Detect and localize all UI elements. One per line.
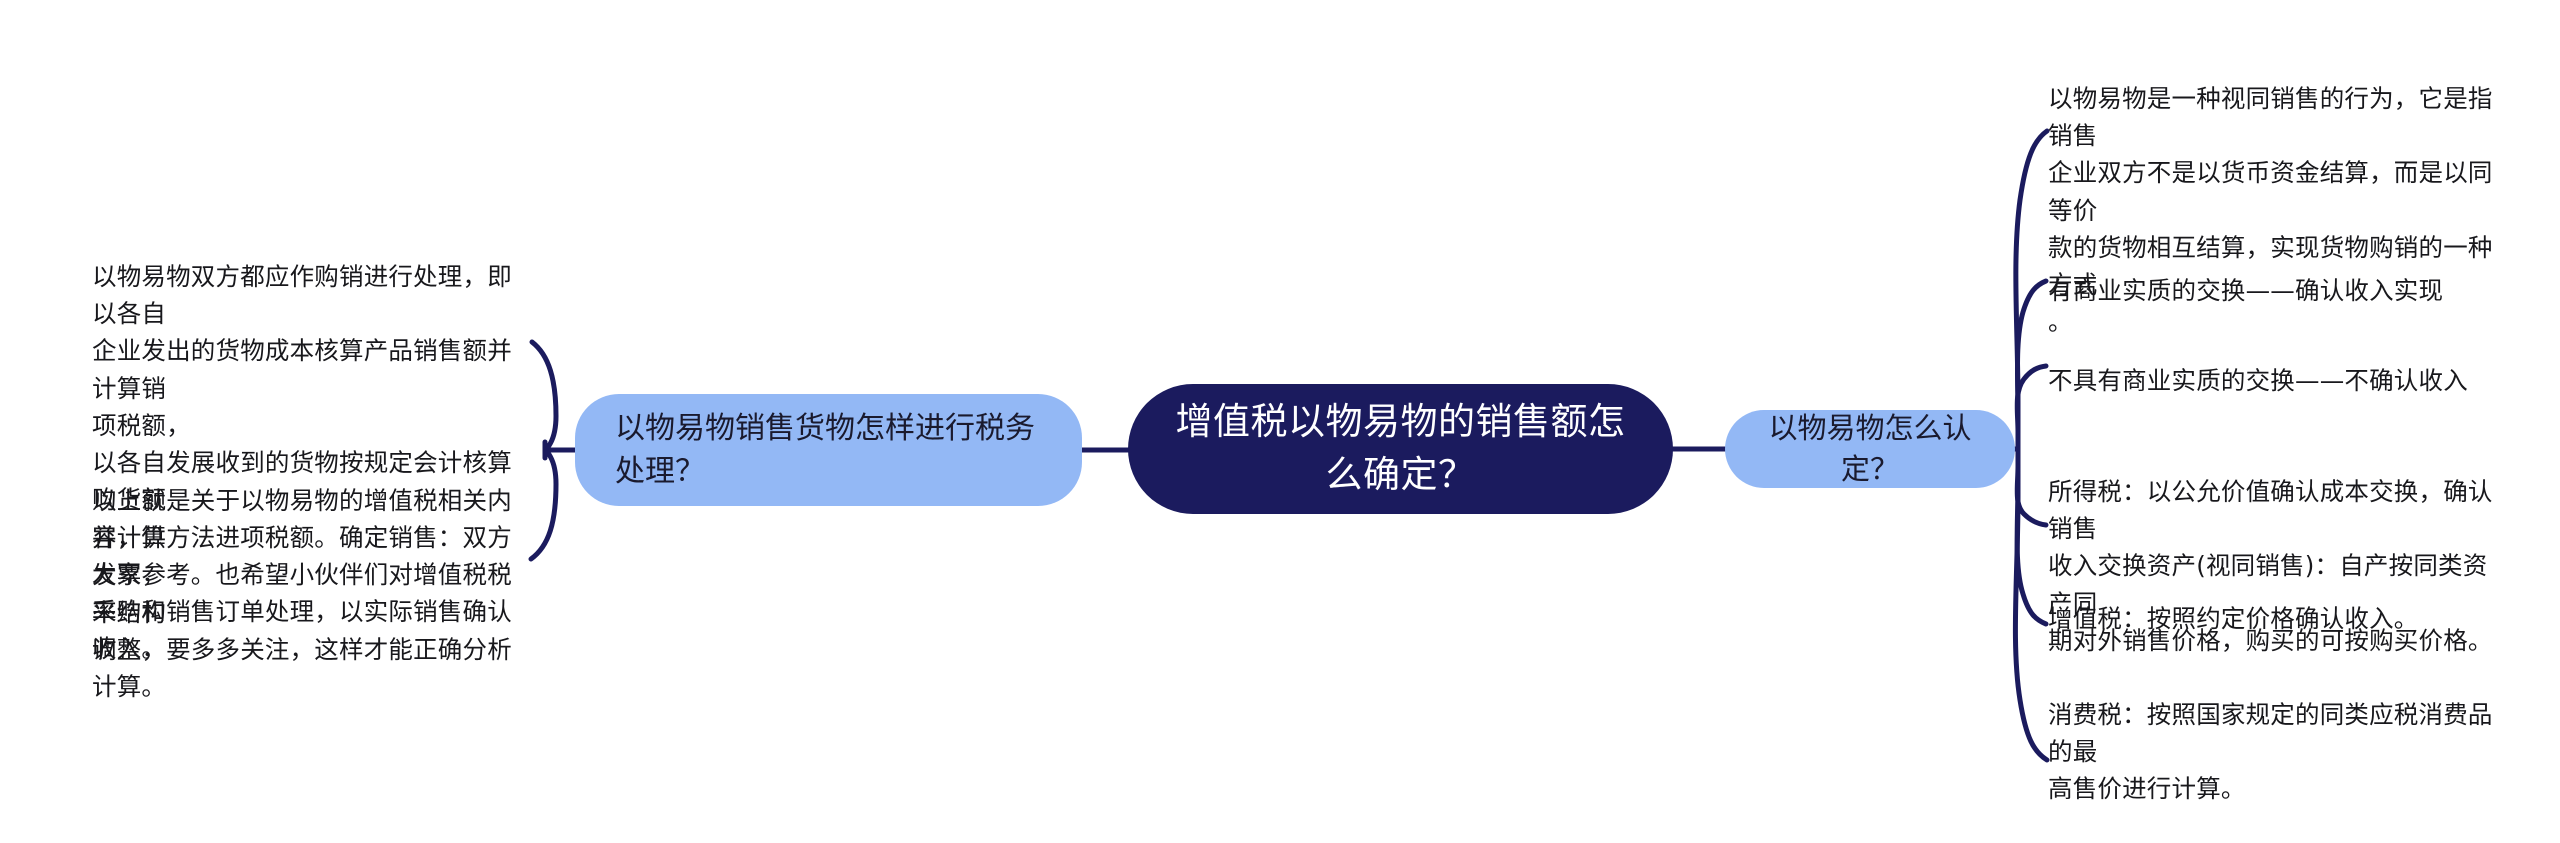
leaf-right-1: 有商业实质的交换——确认收入实现 (2048, 272, 2500, 309)
leaf-right-2: 不具有商业实质的交换——不确认收入 (2048, 362, 2500, 399)
edge-right-leaf-1 (2017, 281, 2046, 418)
branch-node-right-label: 以物易物怎么认定？ (1755, 408, 1985, 489)
edge-left-brace (532, 342, 556, 450)
edge-right-leaf-2 (2017, 366, 2046, 432)
edge-right-leaf-0 (2016, 131, 2047, 402)
central-node[interactable]: 增值税以物易物的销售额怎么确定？ (1128, 384, 1673, 514)
leaf-right-4: 增值税：按照约定价格确认收入。 (2048, 600, 2500, 637)
central-node-label: 增值税以物易物的销售额怎么确定？ (1162, 396, 1639, 501)
leaf-right-5: 消费税：按照国家规定的同类应税消费品的最 高售价进行计算。 (2048, 696, 2500, 808)
edge-left-brace-lower (531, 450, 556, 559)
branch-node-left[interactable]: 以物易物销售货物怎样进行税务处理？ (575, 394, 1082, 506)
leaf-left-1: 以上就是关于以物易物的增值税相关内容，供 大家参考。也希望小伙伴们对增值税税率结… (92, 482, 532, 705)
branch-node-left-label: 以物易物销售货物怎样进行税务处理？ (615, 407, 1042, 494)
mind-map-canvas: 增值税以物易物的销售额怎么确定？ 以物易物销售货物怎样进行税务处理？ 以物易物怎… (0, 0, 2560, 843)
edge-right-leaf-5 (2015, 498, 2047, 760)
edge-right-leaf-4 (2017, 482, 2046, 624)
edge-right-leaf-3 (2017, 466, 2046, 525)
branch-node-right[interactable]: 以物易物怎么认定？ (1725, 410, 2015, 488)
